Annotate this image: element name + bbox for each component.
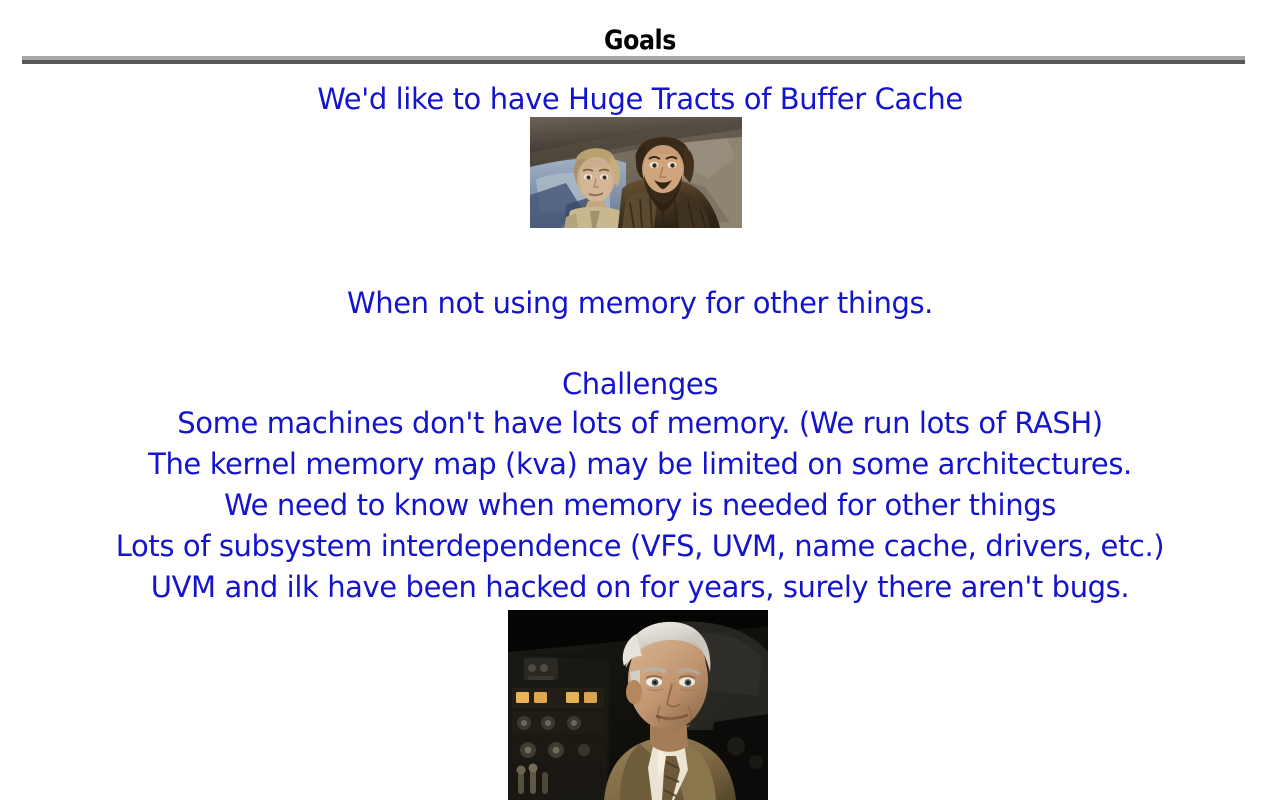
challenge-item: The kernel memory map (kva) may be limit…	[0, 444, 1280, 485]
title-divider-dark	[22, 60, 1245, 64]
slide: Goals We'd like to have Huge Tracts of B…	[0, 0, 1280, 800]
surely-you-cant-be-serious-photo	[508, 610, 768, 800]
challenges-heading: Challenges	[0, 364, 1280, 405]
challenge-item: We need to know when memory is needed fo…	[0, 485, 1280, 526]
huge-tracts-of-land-image	[530, 117, 742, 228]
challenges-list: Some machines don't have lots of memory.…	[0, 403, 1280, 608]
challenge-item: Some machines don't have lots of memory.…	[0, 403, 1280, 444]
airplane-cockpit-image	[508, 610, 768, 800]
challenge-item: UVM and ilk have been hacked on for year…	[0, 567, 1280, 608]
title-divider	[22, 56, 1245, 64]
challenge-item: Lots of subsystem interdependence (VFS, …	[0, 526, 1280, 567]
headline-text: We'd like to have Huge Tracts of Buffer …	[0, 79, 1280, 120]
page-title: Goals	[77, 26, 1203, 56]
subpoint-text: When not using memory for other things.	[0, 283, 1280, 324]
huge-tracts-of-land-photo	[530, 117, 742, 228]
